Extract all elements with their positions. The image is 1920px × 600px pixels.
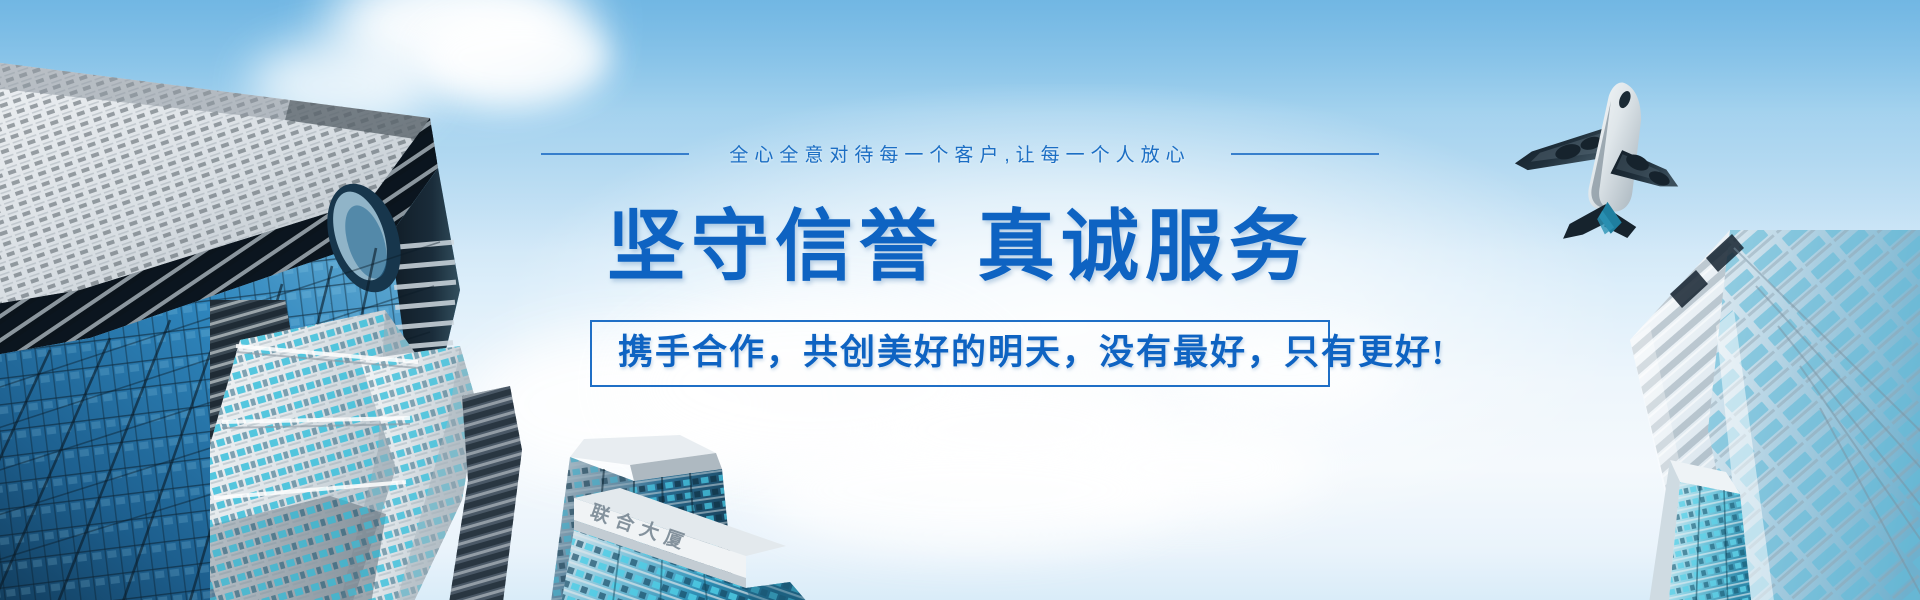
skyscraper-left-icon bbox=[0, 0, 500, 600]
cloud-7 bbox=[1060, 420, 1320, 515]
rule-left bbox=[541, 153, 689, 155]
headline-part-1: 坚守信誉 bbox=[607, 203, 943, 290]
cloud-1 bbox=[330, 0, 590, 90]
building-sign-label: 联合大厦 bbox=[587, 497, 694, 556]
rule-right bbox=[1231, 153, 1379, 155]
subtitle-box: 携手合作，共创美好的明天，没有最好，只有更好! bbox=[590, 320, 1330, 387]
cloud-8 bbox=[760, 430, 1180, 550]
cloud-9 bbox=[120, 470, 360, 580]
cloud-2 bbox=[420, 10, 610, 105]
cloud-3 bbox=[250, 40, 430, 130]
cloud-6 bbox=[860, 370, 1160, 490]
subtitle-text: 携手合作，共创美好的明天，没有最好，只有更好! bbox=[618, 332, 1302, 373]
tagline-text: 全心全意对待每一个客户,让每一个人放心 bbox=[729, 140, 1190, 167]
skyscraper-right-small-icon bbox=[1640, 460, 1770, 600]
hero-banner: 联合大厦 bbox=[0, 0, 1920, 600]
page-title: 坚守信誉真诚服务 bbox=[0, 206, 1920, 289]
tagline-row: 全心全意对待每一个客户,让每一个人放心 bbox=[0, 140, 1920, 167]
skyscraper-sign-icon bbox=[550, 470, 870, 600]
headline-part-2: 真诚服务 bbox=[977, 203, 1313, 290]
subtitle-wrap: 携手合作，共创美好的明天，没有最好，只有更好! bbox=[0, 320, 1920, 387]
skyscraper-center-icon bbox=[530, 435, 790, 600]
